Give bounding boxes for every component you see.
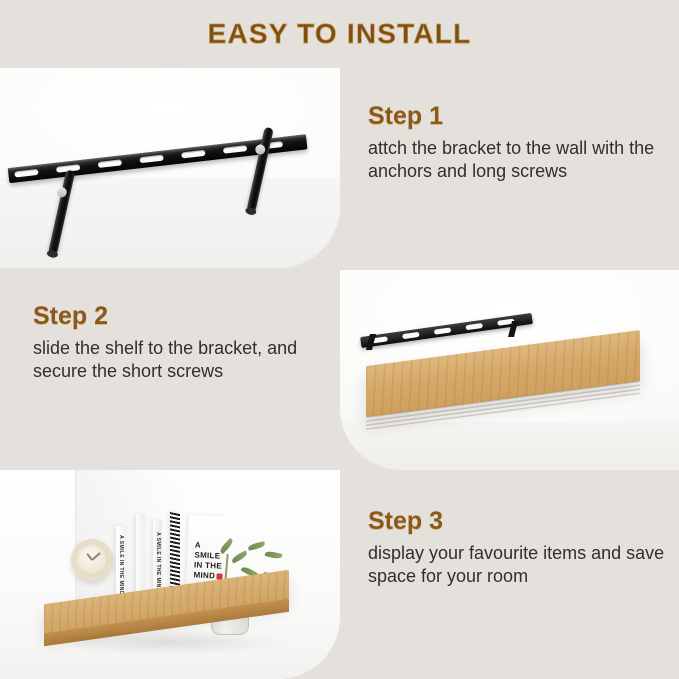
- page-title: EASY TO INSTALL: [208, 18, 472, 50]
- bracket-photo: [0, 68, 340, 268]
- shelf-shadow: [48, 629, 286, 655]
- styled-shelf-photo: A SMILE IN THE MIND A SMILE IN THE MIND …: [0, 470, 340, 679]
- step-1-description: attch the bracket to the wall with the a…: [368, 137, 668, 185]
- book-spine-title: A SMILE IN THE MIND: [118, 535, 124, 595]
- bracket-slot: [140, 155, 165, 164]
- bracket-slot: [98, 160, 123, 169]
- rod-end-cap: [245, 207, 257, 216]
- step-3-text: Step 3 display your favourite items and …: [368, 508, 673, 589]
- step-3-image-panel: A SMILE IN THE MIND A SMILE IN THE MIND …: [0, 470, 340, 679]
- book-spine-title: A SMILE IN THE MIND: [155, 532, 161, 592]
- product-instruction-infographic: EASY TO INSTALL: [0, 0, 679, 679]
- bracket-rail: [360, 313, 533, 348]
- step-2-description: slide the shelf to the bracket, and secu…: [33, 337, 333, 385]
- header: EASY TO INSTALL: [0, 0, 679, 68]
- clock-face: [78, 546, 106, 574]
- bracket-slot: [14, 169, 39, 178]
- shelf-assembly-illustration: [360, 318, 658, 434]
- step-2-text: Step 2 slide the shelf to the bracket, a…: [33, 303, 333, 384]
- bracket-slot: [223, 145, 248, 154]
- step-3-description: display your favourite items and save sp…: [368, 542, 673, 590]
- step-3-title: Step 3: [368, 508, 673, 536]
- step-2-title: Step 2: [33, 303, 333, 331]
- step-1-title: Step 1: [368, 103, 668, 131]
- step-1-image-panel: [0, 68, 340, 268]
- clock-minute-hand: [92, 552, 101, 561]
- bracket-support-rod: [48, 170, 75, 256]
- shelf-with-bracket-photo: [340, 270, 679, 470]
- bracket-slot: [402, 332, 420, 339]
- bracket-slot: [181, 150, 206, 159]
- step-1-text: Step 1 attch the bracket to the wall wit…: [368, 103, 668, 184]
- bracket-slot: [466, 323, 484, 330]
- bracket-slot: [434, 327, 452, 334]
- step-2-image-panel: [340, 270, 679, 470]
